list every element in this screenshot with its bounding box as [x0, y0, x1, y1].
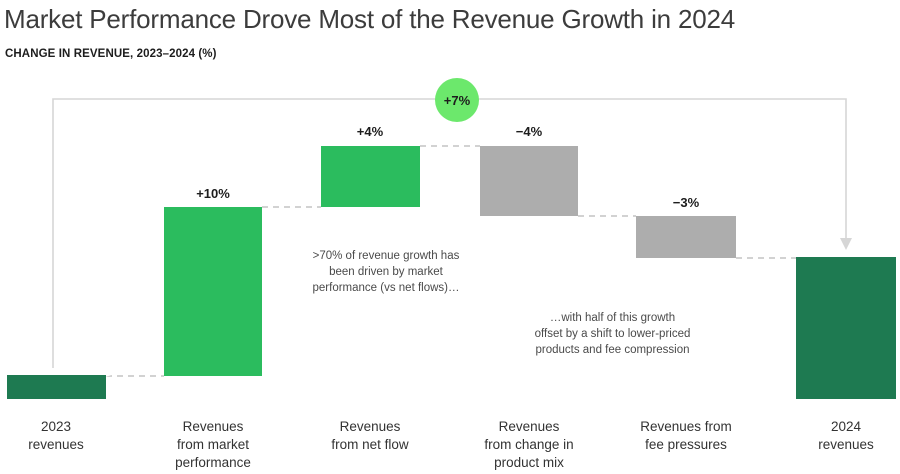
category-label-2023-revenues: 2023 revenues	[6, 418, 106, 454]
category-label-line: from change in	[469, 436, 589, 454]
bar-fee-pressures[interactable]	[636, 216, 736, 258]
annotation-line: …with half of this growth	[505, 310, 720, 326]
bar-market-performance[interactable]	[164, 207, 262, 376]
annotation-line: >70% of revenue growth has	[281, 248, 491, 264]
value-label-net-flow: +4%	[320, 124, 420, 139]
bar-net-flow[interactable]	[321, 146, 420, 207]
category-label-2024-revenues: 2024 revenues	[796, 418, 896, 454]
chart-page: Market Performance Drove Most of the Rev…	[0, 0, 900, 474]
value-label-fee-pressures: −3%	[636, 195, 736, 210]
axis-break-slash	[2, 373, 898, 400]
category-label-line: from net flow	[310, 436, 430, 454]
annotation-line: offset by a shift to lower-priced	[505, 326, 720, 342]
value-label-product-mix: −4%	[479, 124, 579, 139]
net-change-badge-label: +7%	[444, 94, 470, 107]
bracket-arrowhead	[840, 238, 852, 250]
annotation-market-performance: >70% of revenue growth has been driven b…	[281, 248, 491, 296]
annotation-line: been driven by market	[281, 264, 491, 280]
category-label-market-performance: Revenues from market performance	[153, 418, 273, 472]
category-label-line: product mix	[469, 454, 589, 472]
annotation-line: performance (vs net flows)…	[281, 280, 491, 296]
category-label-line: performance	[153, 454, 273, 472]
category-label-line: 2024	[796, 418, 896, 436]
bar-2024-revenues[interactable]	[796, 257, 896, 399]
category-label-net-flow: Revenues from net flow	[310, 418, 430, 454]
category-label-line: 2023	[6, 418, 106, 436]
category-label-line: fee pressures	[626, 436, 746, 454]
waterfall-chart: +10% +4% −4% −3% +7% >70% of revenue gro…	[0, 0, 900, 474]
category-label-line: Revenues	[153, 418, 273, 436]
category-label-product-mix: Revenues from change in product mix	[469, 418, 589, 472]
category-label-line: revenues	[6, 436, 106, 454]
bar-product-mix[interactable]	[480, 146, 578, 216]
category-label-line: from market	[153, 436, 273, 454]
value-label-market-performance: +10%	[163, 186, 263, 201]
chart-guides	[0, 0, 900, 474]
bar-2023-revenues[interactable]	[7, 375, 106, 399]
net-change-badge[interactable]: +7%	[435, 78, 479, 122]
annotation-offset: …with half of this growth offset by a sh…	[505, 310, 720, 358]
category-label-line: Revenues	[469, 418, 589, 436]
category-label-line: Revenues from	[626, 418, 746, 436]
category-label-line: Revenues	[310, 418, 430, 436]
category-label-fee-pressures: Revenues from fee pressures	[626, 418, 746, 454]
annotation-line: products and fee compression	[505, 342, 720, 358]
category-label-line: revenues	[796, 436, 896, 454]
